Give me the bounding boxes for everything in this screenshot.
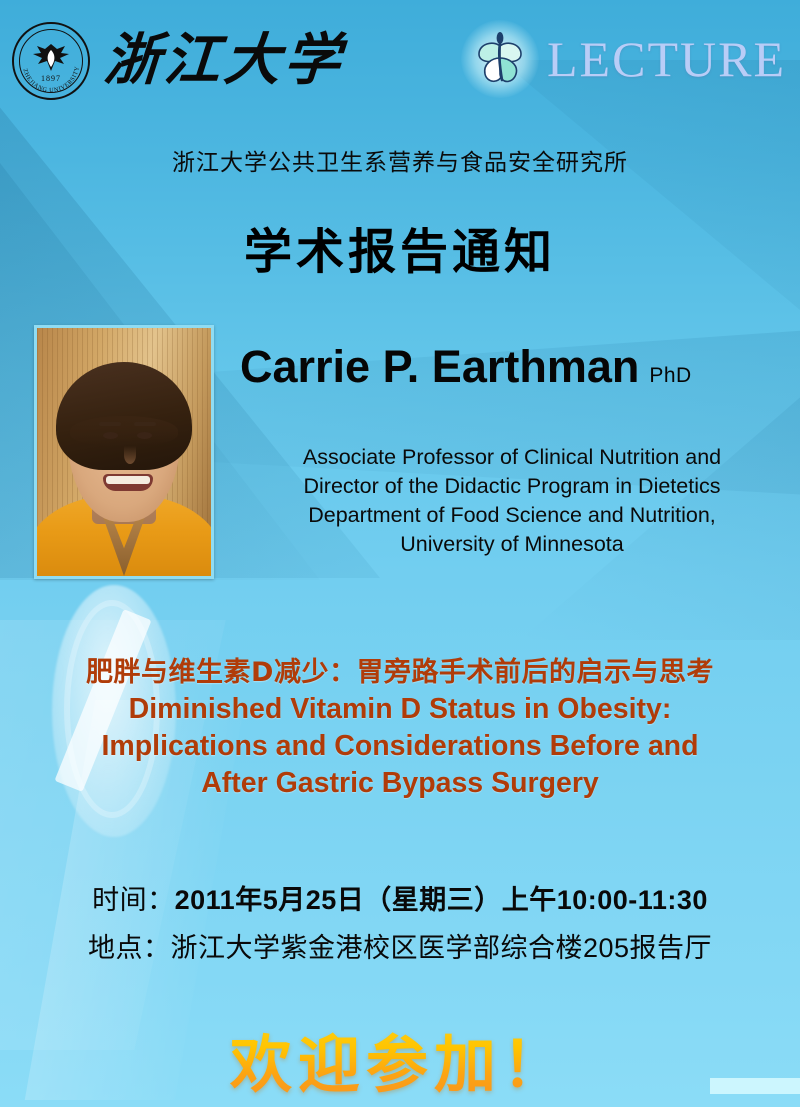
event-venue-row: 地点：浙江大学紫金港校区医学部综合楼205报告厅	[0, 924, 800, 972]
university-name-cn: 浙江大学	[102, 33, 346, 89]
page-title: 学术报告通知	[0, 212, 800, 282]
affiliation-line: Associate Professor of Clinical Nutritio…	[232, 443, 792, 472]
talk-title-en-line: Implications and Considerations Before a…	[18, 728, 782, 765]
lecture-poster: ZHEJIANG UNIVERSITY 1897 浙江大学	[0, 0, 800, 1107]
portrait-brow-left	[99, 422, 121, 426]
speaker-degree: PhD	[649, 364, 691, 387]
event-details: 时间：2011年5月25日（星期三）上午10:00-11:30 地点：浙江大学紫…	[0, 876, 800, 972]
speaker-name-block: Carrie P. EarthmanPhD	[240, 344, 788, 389]
event-venue-value: 浙江大学紫金港校区医学部综合楼205报告厅	[170, 933, 712, 963]
portrait-eye-left	[103, 432, 118, 439]
zhejiang-university-logo: ZHEJIANG UNIVERSITY 1897 浙江大学	[12, 22, 344, 100]
portrait-nose	[124, 446, 136, 464]
lecture-branding: LECTURE	[461, 20, 786, 98]
portrait-eye-right	[137, 432, 152, 439]
event-time-row: 时间：2011年5月25日（星期三）上午10:00-11:30	[0, 876, 800, 924]
event-time-value: 2011年5月25日（星期三）上午10:00-11:30	[175, 885, 708, 915]
talk-title: 肥胖与维生素D减少：胃旁路手术前后的启示与思考 Diminished Vitam…	[18, 655, 782, 802]
event-time-label: 时间：	[92, 885, 175, 915]
talk-title-en-line: Diminished Vitamin D Status in Obesity:	[18, 691, 782, 728]
affiliation-line: Department of Food Science and Nutrition…	[232, 501, 792, 530]
event-venue-label: 地点：	[88, 933, 171, 963]
speaker-portrait	[34, 325, 214, 579]
speaker-name: Carrie P. Earthman	[240, 341, 639, 392]
seal-phoenix-icon	[31, 40, 71, 74]
affiliation-line: University of Minnesota	[232, 530, 792, 559]
university-seal-icon: ZHEJIANG UNIVERSITY 1897	[12, 22, 90, 100]
poster-header: ZHEJIANG UNIVERSITY 1897 浙江大学	[0, 0, 800, 118]
lecture-label: LECTURE	[547, 30, 786, 88]
talk-title-en-line: After Gastric Bypass Surgery	[18, 765, 782, 802]
welcome-message: 欢迎参加！	[0, 1014, 800, 1104]
speaker-affiliation: Associate Professor of Clinical Nutritio…	[232, 443, 792, 559]
portrait-teeth	[106, 476, 150, 484]
portrait-brow-right	[134, 422, 156, 426]
butterfly-logo-icon	[461, 20, 539, 98]
organization-line: 浙江大学公共卫生系营养与食品安全研究所	[0, 143, 800, 177]
affiliation-line: Director of the Didactic Program in Diet…	[232, 472, 792, 501]
talk-title-cn: 肥胖与维生素D减少：胃旁路手术前后的启示与思考	[18, 655, 782, 691]
portrait-mouth	[103, 474, 153, 491]
seal-year: 1897	[14, 74, 88, 83]
